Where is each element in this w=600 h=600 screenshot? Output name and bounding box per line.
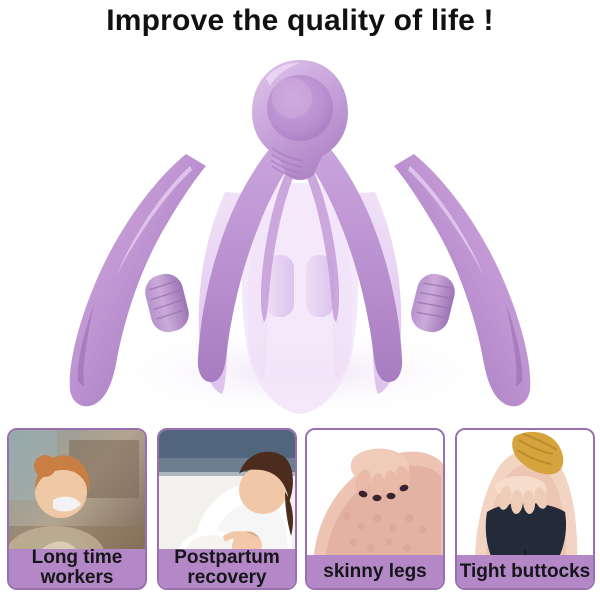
card-label-line: recovery (187, 567, 266, 588)
product-roller-right (408, 270, 459, 335)
product-image-hip-trainer (0, 42, 600, 420)
product-roller-left (142, 270, 193, 335)
card-label-line: Tight buttocks (460, 562, 591, 582)
benefit-card-skinny-legs[interactable]: skinny legs (305, 428, 445, 590)
card-label-line: workers (41, 567, 114, 588)
benefit-card-postpartum-recovery[interactable]: Postpartum recovery (157, 428, 297, 590)
benefit-card-tight-buttocks[interactable]: Tight buttocks (455, 428, 595, 590)
card-label-line: Long time (32, 547, 123, 568)
product-image-stage (0, 42, 600, 420)
card-label-line: skinny legs (323, 562, 427, 582)
card-label-postpartum-recovery: Postpartum recovery (159, 549, 295, 588)
benefit-cards: Long time workers (0, 426, 600, 596)
card-label-tight-buttocks: Tight buttocks (457, 555, 593, 588)
card-label-skinny-legs: skinny legs (307, 555, 443, 588)
benefit-card-long-time-workers[interactable]: Long time workers (7, 428, 147, 590)
page-title: Improve the quality of life ! (0, 4, 600, 38)
card-label-line: Postpartum (174, 547, 280, 568)
card-label-long-time-workers: Long time workers (9, 549, 145, 588)
